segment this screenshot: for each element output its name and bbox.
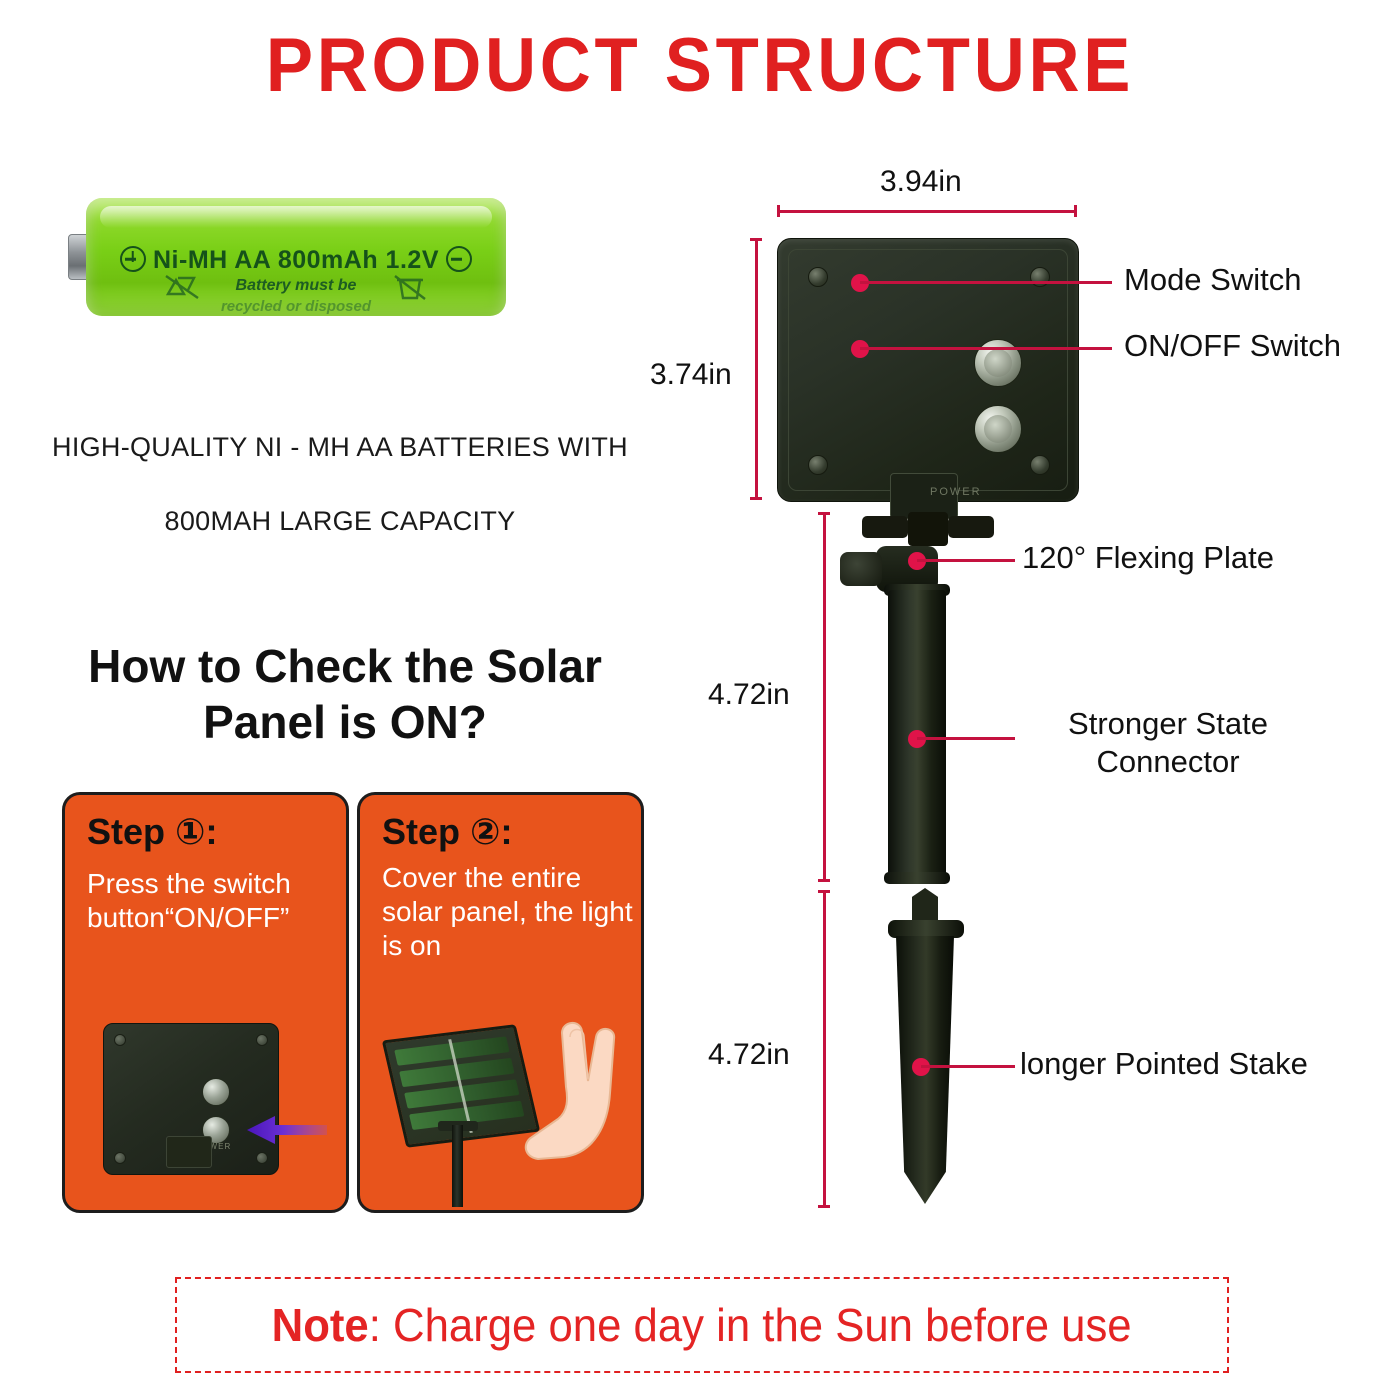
step-1-body: Press the switch button“ON/OFF” [87,867,339,935]
step-1-title: Step ①: [87,811,217,853]
recycle-icon [164,274,200,300]
screw-icon [256,1034,268,1046]
howto-heading: How to Check the Solar Panel is ON? [20,638,670,750]
stake-collar [888,920,964,938]
battery-spec-line: Ni-MH AA 800mAh 1.2V [86,246,506,275]
panel-port [166,1136,212,1168]
note-text: Note: Charge one day in the Sun before u… [272,1298,1132,1352]
callout-label-onoff-switch: ON/OFF Switch [1124,328,1341,364]
dimension-label-connector-length: 4.72in [708,678,790,712]
flexing-plate-knob[interactable] [840,552,882,586]
screw-icon [1030,267,1050,287]
screw-icon [808,267,828,287]
callout-label-connector-line1: Stronger State [1068,706,1268,741]
mode-switch-button[interactable] [202,1078,230,1106]
battery-illustration: Ni-MH AA 800mAh 1.2V Battery must be rec… [60,182,520,342]
dimension-line-connector-length [818,512,830,882]
callout-line-connector [917,737,1015,740]
screw-icon [808,455,828,475]
dimension-line-stake-length [818,890,830,1208]
solar-panel-back-image: POWER [103,1023,279,1175]
callout-line-onoff-switch [860,347,1112,350]
panel-inner-border [788,249,1068,491]
step-2-body: Cover the entire solar panel, the light … [382,861,634,963]
callout-label-connector: Stronger State Connector [1018,705,1318,781]
howto-heading-line2: Panel is ON? [203,696,487,748]
battery-spec-text: Ni-MH AA 800mAh 1.2V [153,246,439,274]
callout-line-flexing-plate [917,559,1015,562]
panel-pole [452,1125,463,1207]
callout-label-mode-switch: Mode Switch [1124,262,1301,298]
onoff-switch-button[interactable] [974,405,1022,453]
plus-terminal-icon [120,246,146,272]
connector-ring [884,872,950,884]
battery-caption-line2: 800MAH LARGE CAPACITY [30,484,650,558]
power-label: POWER [930,486,982,498]
screw-icon [114,1152,126,1164]
step-2-title: Step ②: [382,811,512,853]
battery-warning-line2: recycled or disposed [86,298,506,315]
howto-heading-line1: How to Check the Solar [88,640,602,692]
callout-line-mode-switch [860,281,1112,284]
page-title: PRODUCT STRUCTURE [49,22,1351,109]
battery-warning-line1: Battery must be [86,277,506,295]
note-banner: Note: Charge one day in the Sun before u… [175,1277,1229,1373]
dimension-line-panel-width [777,205,1077,217]
battery-gloss-highlight [100,206,492,228]
battery-caption: HIGH-QUALITY NI - MH AA BATTERIES WITH 8… [30,410,650,558]
callout-label-stake: longer Pointed Stake [1020,1046,1308,1082]
callout-label-flexing-plate: 120° Flexing Plate [1022,540,1274,576]
callout-line-stake [921,1065,1015,1068]
step-card-2: Step ②: Cover the entire solar panel, th… [357,792,644,1213]
battery-body: Ni-MH AA 800mAh 1.2V Battery must be rec… [86,198,506,316]
hand-icon [518,1007,644,1167]
dimension-label-stake-length: 4.72in [708,1038,790,1072]
note-prefix: Note [272,1299,369,1351]
step-card-1: Step ①: Press the switch button“ON/OFF” … [62,792,349,1213]
screw-icon [1030,455,1050,475]
flexing-plate [862,512,994,546]
screw-icon [256,1152,268,1164]
no-trash-bin-icon [392,274,428,300]
dimension-line-panel-height [750,238,762,500]
battery-caption-line1: HIGH-QUALITY NI - MH AA BATTERIES WITH [30,410,650,484]
dimension-label-panel-height: 3.74in [650,358,732,392]
screw-icon [114,1034,126,1046]
callout-label-connector-line2: Connector [1096,744,1239,779]
note-message: : Charge one day in the Sun before use [369,1299,1132,1351]
product-diagram: 3.94in 3.74in 4.72in 4.72in POWER [640,160,1400,1270]
minus-terminal-icon [446,246,472,272]
stake-top-tip [912,888,938,922]
pointing-arrow-icon [241,1113,327,1147]
dimension-label-panel-width: 3.94in [880,165,962,199]
solar-panel-back: POWER [777,238,1079,502]
